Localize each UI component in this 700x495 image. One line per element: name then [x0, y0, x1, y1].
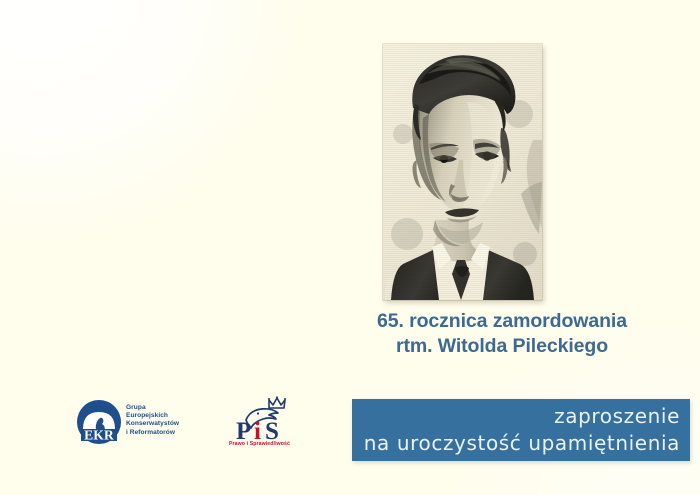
- ekr-name-line-2: Europejskich: [126, 412, 179, 420]
- page-title-line-2: rtm. Witolda Pileckiego: [352, 334, 652, 359]
- portrait-photograph-witold-pilecki: [383, 44, 542, 300]
- pis-eagle-crown-icon: P i S: [228, 396, 302, 442]
- ekr-name-line-3: Konserwatystów: [126, 420, 179, 428]
- svg-text:EKR: EKR: [84, 427, 114, 442]
- invitation-card: 65. rocznica zamordowania rtm. Witolda P…: [0, 0, 700, 495]
- svg-text:i: i: [254, 418, 261, 442]
- ekr-logo: EKR Grupa Europejskich Konserwatystów i …: [76, 399, 188, 447]
- svg-text:P: P: [236, 418, 251, 442]
- invitation-banner: zaproszenie na uroczystość upamiętnienia: [352, 399, 690, 461]
- svg-text:S: S: [265, 418, 279, 442]
- background-light-wash: [0, 0, 300, 240]
- invitation-banner-line-1: zaproszenie: [364, 403, 680, 430]
- invitation-banner-line-2: na uroczystość upamiętnienia: [364, 430, 680, 457]
- ekr-emblem-icon: EKR: [76, 399, 122, 445]
- pis-tagline: Prawo i Sprawiedliwość: [229, 441, 303, 447]
- portrait-frame: [383, 44, 542, 300]
- page-title-line-1: 65. rocznica zamordowania: [352, 309, 652, 334]
- ekr-group-name: Grupa Europejskich Konserwatystów i Refo…: [126, 404, 179, 437]
- page-title: 65. rocznica zamordowania rtm. Witolda P…: [352, 309, 652, 359]
- ekr-name-line-1: Grupa: [126, 404, 179, 412]
- pis-logo: P i S Prawo i Sprawiedliwość: [228, 396, 302, 452]
- ekr-name-line-4: i Reformatorów: [126, 429, 179, 437]
- invitation-banner-text: zaproszenie na uroczystość upamiętnienia: [364, 403, 680, 457]
